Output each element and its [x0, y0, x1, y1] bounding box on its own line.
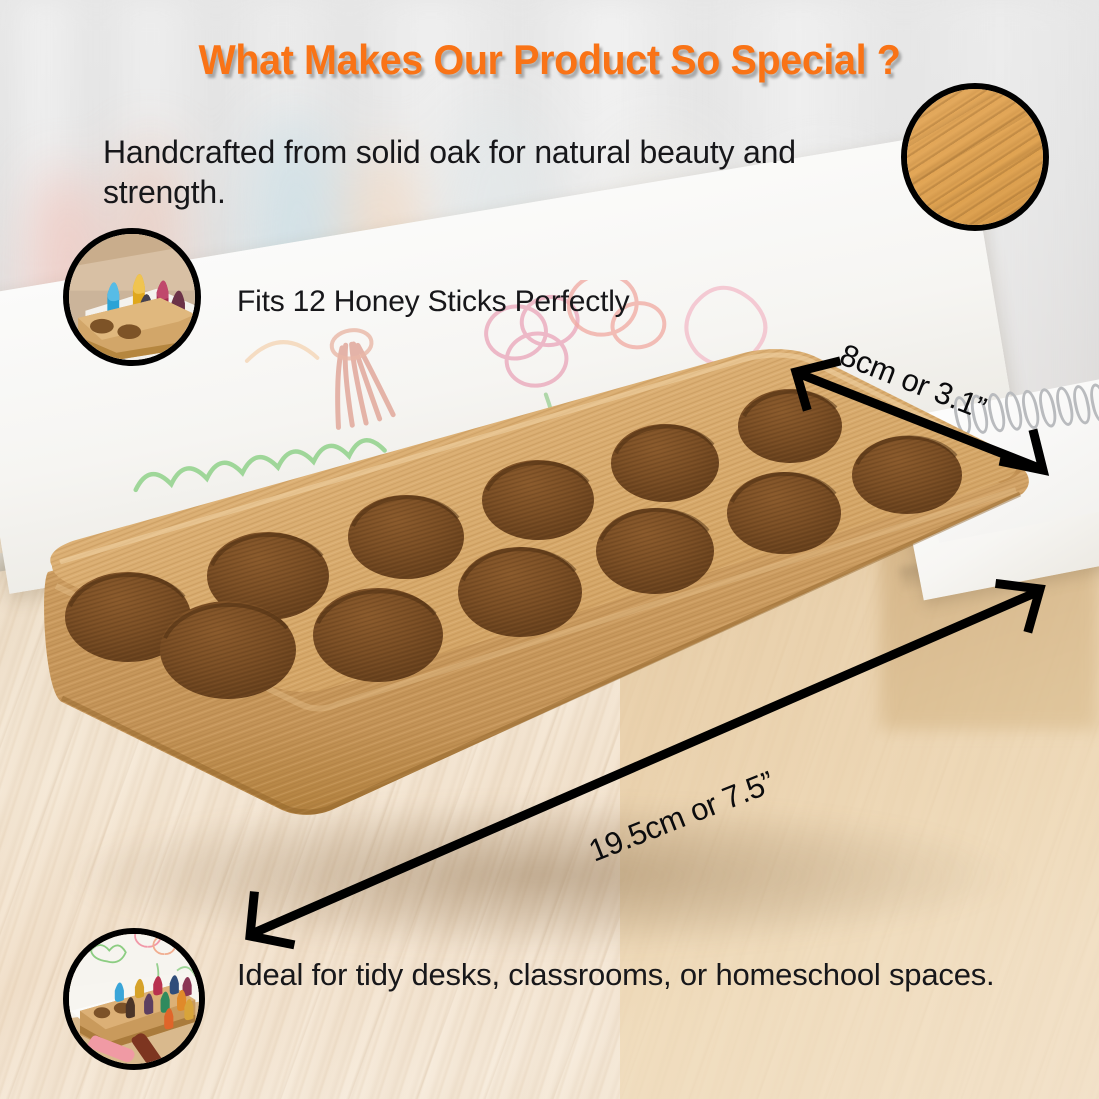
feature-text-handcrafted: Handcrafted from solid oak for natural b…: [103, 132, 903, 213]
thumbnail-full-holder-image: [69, 934, 199, 1064]
thumbnail-full-holder[interactable]: [63, 928, 205, 1070]
length-arrow-line: [256, 592, 1037, 932]
feature-text-use-case: Ideal for tidy desks, classrooms, or hom…: [237, 955, 1037, 994]
thumbnail-crayons-closeup[interactable]: [63, 228, 201, 366]
feature-text-capacity: Fits 12 Honey Sticks Perfectly: [237, 283, 857, 321]
thumbnail-oak-grain[interactable]: [901, 83, 1049, 231]
infographic-canvas: 8cm or 3.1” 19.5cm or 7.5” What Makes Ou…: [0, 0, 1099, 1099]
page-title: What Makes Our Product So Special ?: [33, 36, 1066, 84]
thumbnail-oak-grain-image: [907, 89, 1043, 225]
thumbnail-crayons-closeup-image: [69, 234, 195, 360]
